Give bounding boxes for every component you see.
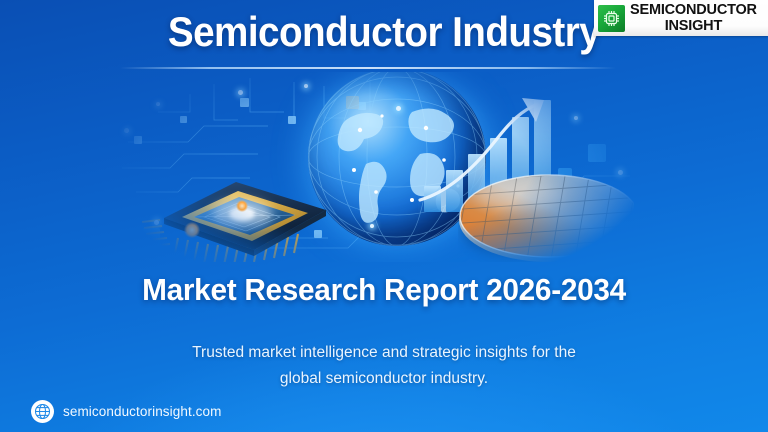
sparkle-dot xyxy=(156,102,160,106)
sparkle-dot xyxy=(184,222,200,238)
sparkle-dot xyxy=(396,106,401,111)
sparkle-dot xyxy=(236,200,248,212)
title-divider xyxy=(120,67,616,69)
brand-logo[interactable]: SEMICONDUCTOR INSIGHT xyxy=(594,0,768,36)
sparkle-dot xyxy=(574,116,578,120)
sparkle-dot xyxy=(154,220,159,225)
sparkle-dot xyxy=(124,128,129,133)
sparkle-dot xyxy=(238,90,243,95)
brand-name-line-1: SEMICONDUCTOR xyxy=(630,3,757,18)
brand-name-line-2: INSIGHT xyxy=(630,19,757,34)
tagline-line-1: Trusted market intelligence and strategi… xyxy=(0,340,768,366)
sparkle-dot xyxy=(304,84,308,88)
website-url[interactable]: semiconductorinsight.com xyxy=(63,404,221,419)
website-footer[interactable]: semiconductorinsight.com xyxy=(31,400,221,423)
sparkle-dot xyxy=(618,170,623,175)
globe-icon xyxy=(31,400,54,423)
marketing-banner: Semiconductor Industry Market Research R… xyxy=(0,0,768,432)
sparkle-dot xyxy=(370,224,374,228)
tagline-line-2: global semiconductor industry. xyxy=(0,366,768,392)
sparkle-dot xyxy=(130,240,134,244)
tagline: Trusted market intelligence and strategi… xyxy=(0,340,768,392)
hero-illustration xyxy=(118,72,634,262)
microprocessor-chip-icon xyxy=(134,160,344,265)
silicon-wafer-icon xyxy=(458,168,640,264)
report-subtitle: Market Research Report 2026-2034 xyxy=(15,272,752,308)
semiconductor-chip-icon xyxy=(598,5,625,32)
brand-name: SEMICONDUCTOR INSIGHT xyxy=(630,3,757,33)
